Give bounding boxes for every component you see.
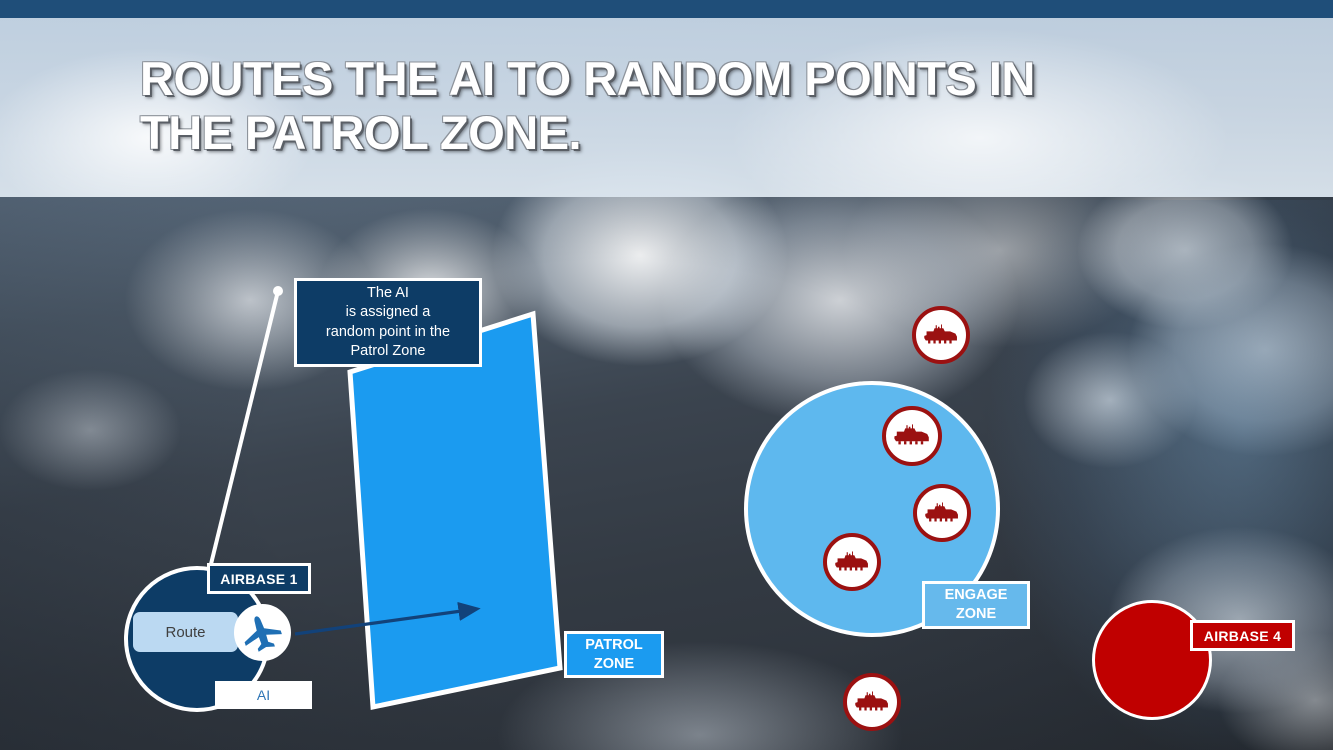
route-box[interactable]: Route [133, 612, 238, 652]
label-airbase-4[interactable]: AIRBASE 4 [1190, 620, 1295, 651]
armored-vehicle-icon [923, 500, 961, 527]
slide-canvas: ROUTES THE AI TO RANDOM POINTS IN THE PA… [0, 0, 1333, 750]
label-ai[interactable]: AI [215, 681, 312, 709]
armored-vehicle-icon [833, 549, 871, 576]
route-arrow [280, 590, 510, 670]
page-title: ROUTES THE AI TO RANDOM POINTS IN THE PA… [140, 52, 1170, 160]
callout-box: The AI is assigned a random point in the… [294, 278, 482, 367]
tank-marker[interactable] [823, 533, 881, 591]
armored-vehicle-icon [833, 549, 871, 576]
armored-vehicle-icon [922, 322, 960, 349]
armored-vehicle-icon [892, 422, 932, 450]
armored-vehicle-icon [853, 689, 891, 716]
label-patrol-zone[interactable]: PATROL ZONE [564, 631, 664, 678]
label-engage-zone[interactable]: ENGAGE ZONE [922, 581, 1030, 629]
tank-marker[interactable] [843, 673, 901, 731]
top-accent-strip [0, 0, 1333, 18]
ai-jet-marker[interactable] [234, 604, 291, 661]
tank-marker[interactable] [913, 484, 971, 542]
fighter-jet-icon [241, 611, 285, 655]
label-airbase-1[interactable]: AIRBASE 1 [207, 563, 311, 594]
armored-vehicle-icon [853, 689, 891, 716]
route-arrow-line [295, 609, 476, 634]
armored-vehicle-icon [892, 422, 932, 450]
tank-marker[interactable] [912, 306, 970, 364]
airbase-4-circle[interactable] [1092, 600, 1212, 720]
armored-vehicle-icon [922, 322, 960, 349]
armored-vehicle-icon [923, 500, 961, 527]
leader-line-endpoint-top [273, 286, 283, 296]
tank-marker[interactable] [882, 406, 942, 466]
